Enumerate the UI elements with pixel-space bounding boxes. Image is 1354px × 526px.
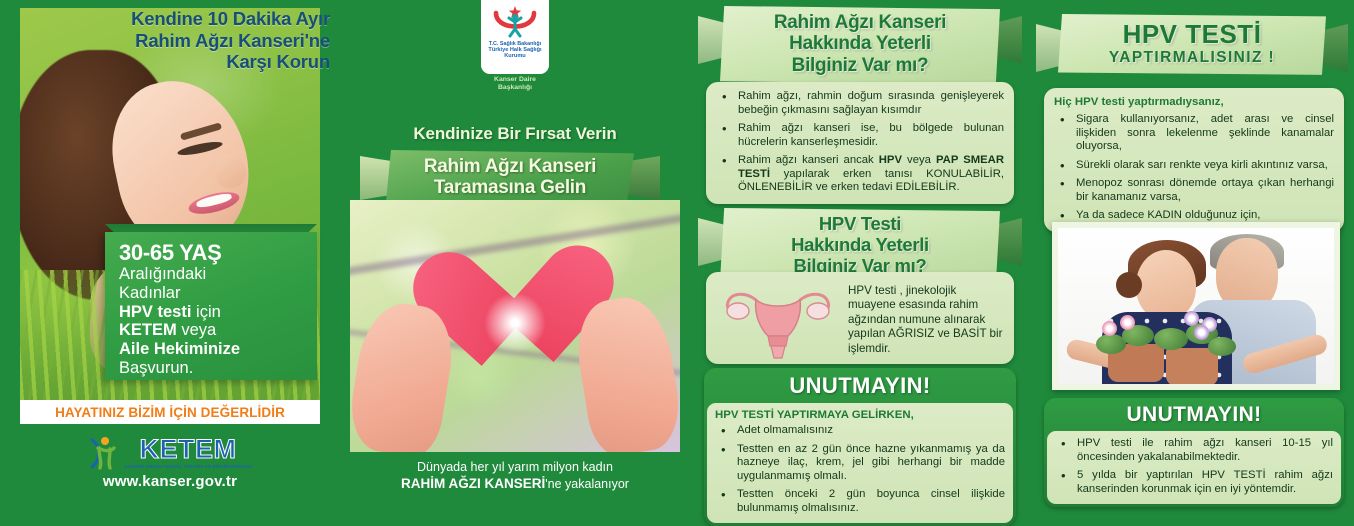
- ketem-website-url[interactable]: www.kanser.gov.tr: [103, 473, 237, 490]
- bullet3-part5: yapılarak erken tanısı KONULABİLİR, ÖNLE…: [738, 168, 1004, 194]
- panel1-headline-line3: Karşı Korun: [68, 51, 330, 73]
- ministry-name-line3: Kurumu: [488, 53, 541, 59]
- bullet2-text: Rahim ağzı kanseri ise, bu bölgede bulun…: [738, 122, 1004, 148]
- list-item: Rahim ağzı kanseri ise, bu bölgede bulun…: [716, 122, 1004, 149]
- life-value-banner-text: HAYATINIZ BİZİM İÇİN DEĞERLİDİR: [55, 405, 285, 420]
- cervical-cancer-heading: Rahim Ağzı Kanseri Hakkında Yeterli Bilg…: [698, 6, 1022, 84]
- list-item: 5 yılda bir yaptırılan HPV TESTİ rahim a…: [1055, 469, 1333, 496]
- sparkle-icon: [480, 288, 550, 358]
- panel-information: Rahim Ağzı Kanseri Hakkında Yeterli Bilg…: [690, 0, 1030, 502]
- risk-factors-list: Sigara kullanıyorsanız, adet arası ve ci…: [1054, 113, 1334, 223]
- cervical-heading-line3: Bilginiz Var mı?: [726, 55, 994, 76]
- life-value-banner: HAYATINIZ BİZİM İÇİN DEĞERLİDİR: [20, 400, 320, 424]
- flower: [1120, 315, 1135, 330]
- list-item: Rahim ağzı, rahmin doğum sırasında geniş…: [716, 90, 1004, 117]
- list-item: Sigara kullanıyorsanız, adet arası ve ci…: [1054, 113, 1334, 154]
- panel-invitation: T.C. Sağlık Bakanlığı Türkiye Halk Sağlı…: [340, 0, 690, 502]
- list-item: Menopoz sonrası dönemde ortaya çıkan her…: [1054, 177, 1334, 204]
- cta-heading-line2: YAPTIRMALISINIZ !: [1064, 49, 1320, 67]
- panel-prevention: Kendine 10 Dakika Ayır Rahim Ağzı Kanser…: [0, 0, 340, 502]
- age-range-line2: Aralığındaki: [119, 265, 307, 284]
- flower: [1194, 325, 1209, 340]
- panel1-headline-line1: Kendine 10 Dakika Ayır: [68, 8, 330, 30]
- bullet3-part1: Rahim ağzı kanseri ancak: [738, 154, 879, 166]
- caption-line2-bold: RAHİM AĞZI KANSERİ: [401, 476, 545, 491]
- ribbon-line2: Taramasına Gelin: [434, 177, 586, 198]
- woman-hair-bun: [1116, 272, 1142, 298]
- list-item: Ya da sadece KADIN olduğunuz için,: [1054, 209, 1334, 223]
- panel2-subtitle: Kendinize Bir Fırsat Verin: [340, 124, 690, 144]
- hpv-heading-line2: Hakkında Yeterli: [726, 235, 994, 256]
- bullet3-part3: veya: [902, 154, 936, 166]
- age-range-callout: 30-65 YAŞ Aralığındaki Kadınlar HPV test…: [105, 232, 317, 380]
- woman-head: [1136, 250, 1196, 320]
- risk-factors-card: Hiç HPV testi yaptırmadıysanız, Sigara k…: [1044, 88, 1344, 232]
- panel3-unutmayin-lead: HPV TESTİ YAPTIRMAYA GELİRKEN,: [715, 409, 1005, 421]
- list-item: HPV testi ile rahim ağzı kanseri 10-15 y…: [1055, 437, 1333, 464]
- list-item: Rahim ağzı kanseri ancak HPV veya PAP SM…: [716, 154, 1004, 195]
- elderly-couple-photo: [1052, 222, 1340, 390]
- flower: [1184, 311, 1199, 326]
- ketem-tagline: KANSER ERKEN TEŞHİS, TARAMA VE EĞİTİM ME…: [124, 464, 252, 469]
- panel2-caption: Dünyada her yıl yarım milyon kadın RAHİM…: [340, 459, 690, 492]
- caption-line1: Dünyada her yıl yarım milyon kadın: [340, 459, 690, 475]
- hpv-test-info-card: HPV testi , jinekolojik muayene esasında…: [706, 272, 1014, 364]
- ketem-logo-block: KETEM KANSER ERKEN TEŞHİS, TARAMA VE EĞİ…: [20, 424, 320, 502]
- ketem-figure-icon: [88, 436, 118, 470]
- ribbon-plate: Rahim Ağzı Kanseri Taramasına Gelin: [386, 150, 634, 206]
- list-item: Adet olmamalısınız: [715, 424, 1005, 438]
- panel4-unutmayin-list: HPV testi ile rahim ağzı kanseri 10-15 y…: [1055, 437, 1333, 496]
- flower-pot-right: [1166, 348, 1218, 384]
- leaf: [1208, 337, 1236, 356]
- hpv-test-description: HPV testi , jinekolojik muayene esasında…: [848, 284, 1004, 356]
- hpv-test-cta-heading: HPV TESTİ YAPTIRMALISINIZ !: [1036, 14, 1348, 75]
- cervical-bullet-list: Rahim ağzı, rahmin doğum sırasında geniş…: [716, 90, 1004, 195]
- cervical-cancer-info-card: Rahim ağzı, rahmin doğum sırasında geniş…: [706, 82, 1014, 204]
- caption-line2-rest: 'ne yakalanıyor: [545, 477, 629, 491]
- panel4-unutmayin-title: UNUTMAYIN!: [1047, 401, 1341, 431]
- list-item: Sürekli olarak sarı renkte veya kirli ak…: [1054, 159, 1334, 173]
- heart-hands-photo: [350, 200, 680, 452]
- age-range-line7: Başvurun.: [119, 359, 307, 378]
- ministry-logo: T.C. Sağlık Bakanlığı Türkiye Halk Sağlı…: [481, 0, 549, 74]
- panel-call-to-action: HPV TESTİ YAPTIRMALISINIZ ! Hiç HPV test…: [1030, 0, 1354, 502]
- ministry-emblem-icon: [488, 5, 542, 39]
- risk-factors-lead: Hiç HPV testi yaptırmadıysanız,: [1054, 96, 1334, 108]
- age-range-line3: Kadınlar: [119, 284, 307, 303]
- hand-right: [570, 292, 680, 452]
- flower: [1102, 321, 1117, 336]
- screening-invite-ribbon: Rahim Ağzı Kanseri Taramasına Gelin: [360, 150, 660, 206]
- list-item: Testten en az 2 gün önce hazne yıkanmamı…: [715, 443, 1005, 484]
- heading-plate: HPV TESTİ YAPTIRMALISINIZ !: [1058, 14, 1326, 75]
- leaf: [1154, 328, 1188, 350]
- age-range-ketem: KETEM: [119, 321, 177, 339]
- bullet3-hpv: HPV: [879, 154, 902, 166]
- poster: Kendine 10 Dakika Ayır Rahim Ağzı Kanser…: [0, 0, 1354, 502]
- department-line2: Başkanlığı: [494, 84, 536, 92]
- age-range-ketem-rest: veya: [177, 321, 216, 339]
- cervical-heading-line2: Hakkında Yeterli: [726, 33, 994, 54]
- panel3-unutmayin-title: UNUTMAYIN!: [707, 371, 1013, 403]
- panel3-unutmayin-box: UNUTMAYIN! HPV TESTİ YAPTIRMAYA GELİRKEN…: [704, 368, 1016, 526]
- hand-left: [350, 298, 459, 452]
- heading-plate: Rahim Ağzı Kanseri Hakkında Yeterli Bilg…: [720, 6, 1000, 84]
- ketem-wordmark: KETEM: [140, 437, 237, 463]
- uterus-icon: [716, 280, 840, 360]
- department-line1: Kanser Daire: [494, 76, 536, 84]
- panel1-headline: Kendine 10 Dakika Ayır Rahim Ağzı Kanser…: [68, 8, 330, 73]
- cta-heading-line1: HPV TESTİ: [1064, 20, 1320, 49]
- panel1-headline-line2: Rahim Ağzı Kanseri'ne: [68, 30, 330, 52]
- ribbon-line1: Rahim Ağzı Kanseri: [424, 156, 596, 177]
- age-range-hpv: HPV testi: [119, 303, 191, 321]
- department-name: Kanser Daire Başkanlığı: [494, 76, 536, 93]
- age-range-value: 30-65 YAŞ: [119, 240, 307, 265]
- cervical-heading-line1: Rahim Ağzı Kanseri: [726, 12, 994, 33]
- age-range-hpv-rest: için: [191, 303, 220, 321]
- bullet1-text: Rahim ağzı, rahmin doğum sırasında geniş…: [738, 90, 1004, 116]
- panel4-unutmayin-box: UNUTMAYIN! HPV testi ile rahim ağzı kans…: [1044, 398, 1344, 507]
- hpv-heading-line1: HPV Testi: [726, 214, 994, 235]
- age-range-line6: Aile Hekiminize: [119, 340, 307, 359]
